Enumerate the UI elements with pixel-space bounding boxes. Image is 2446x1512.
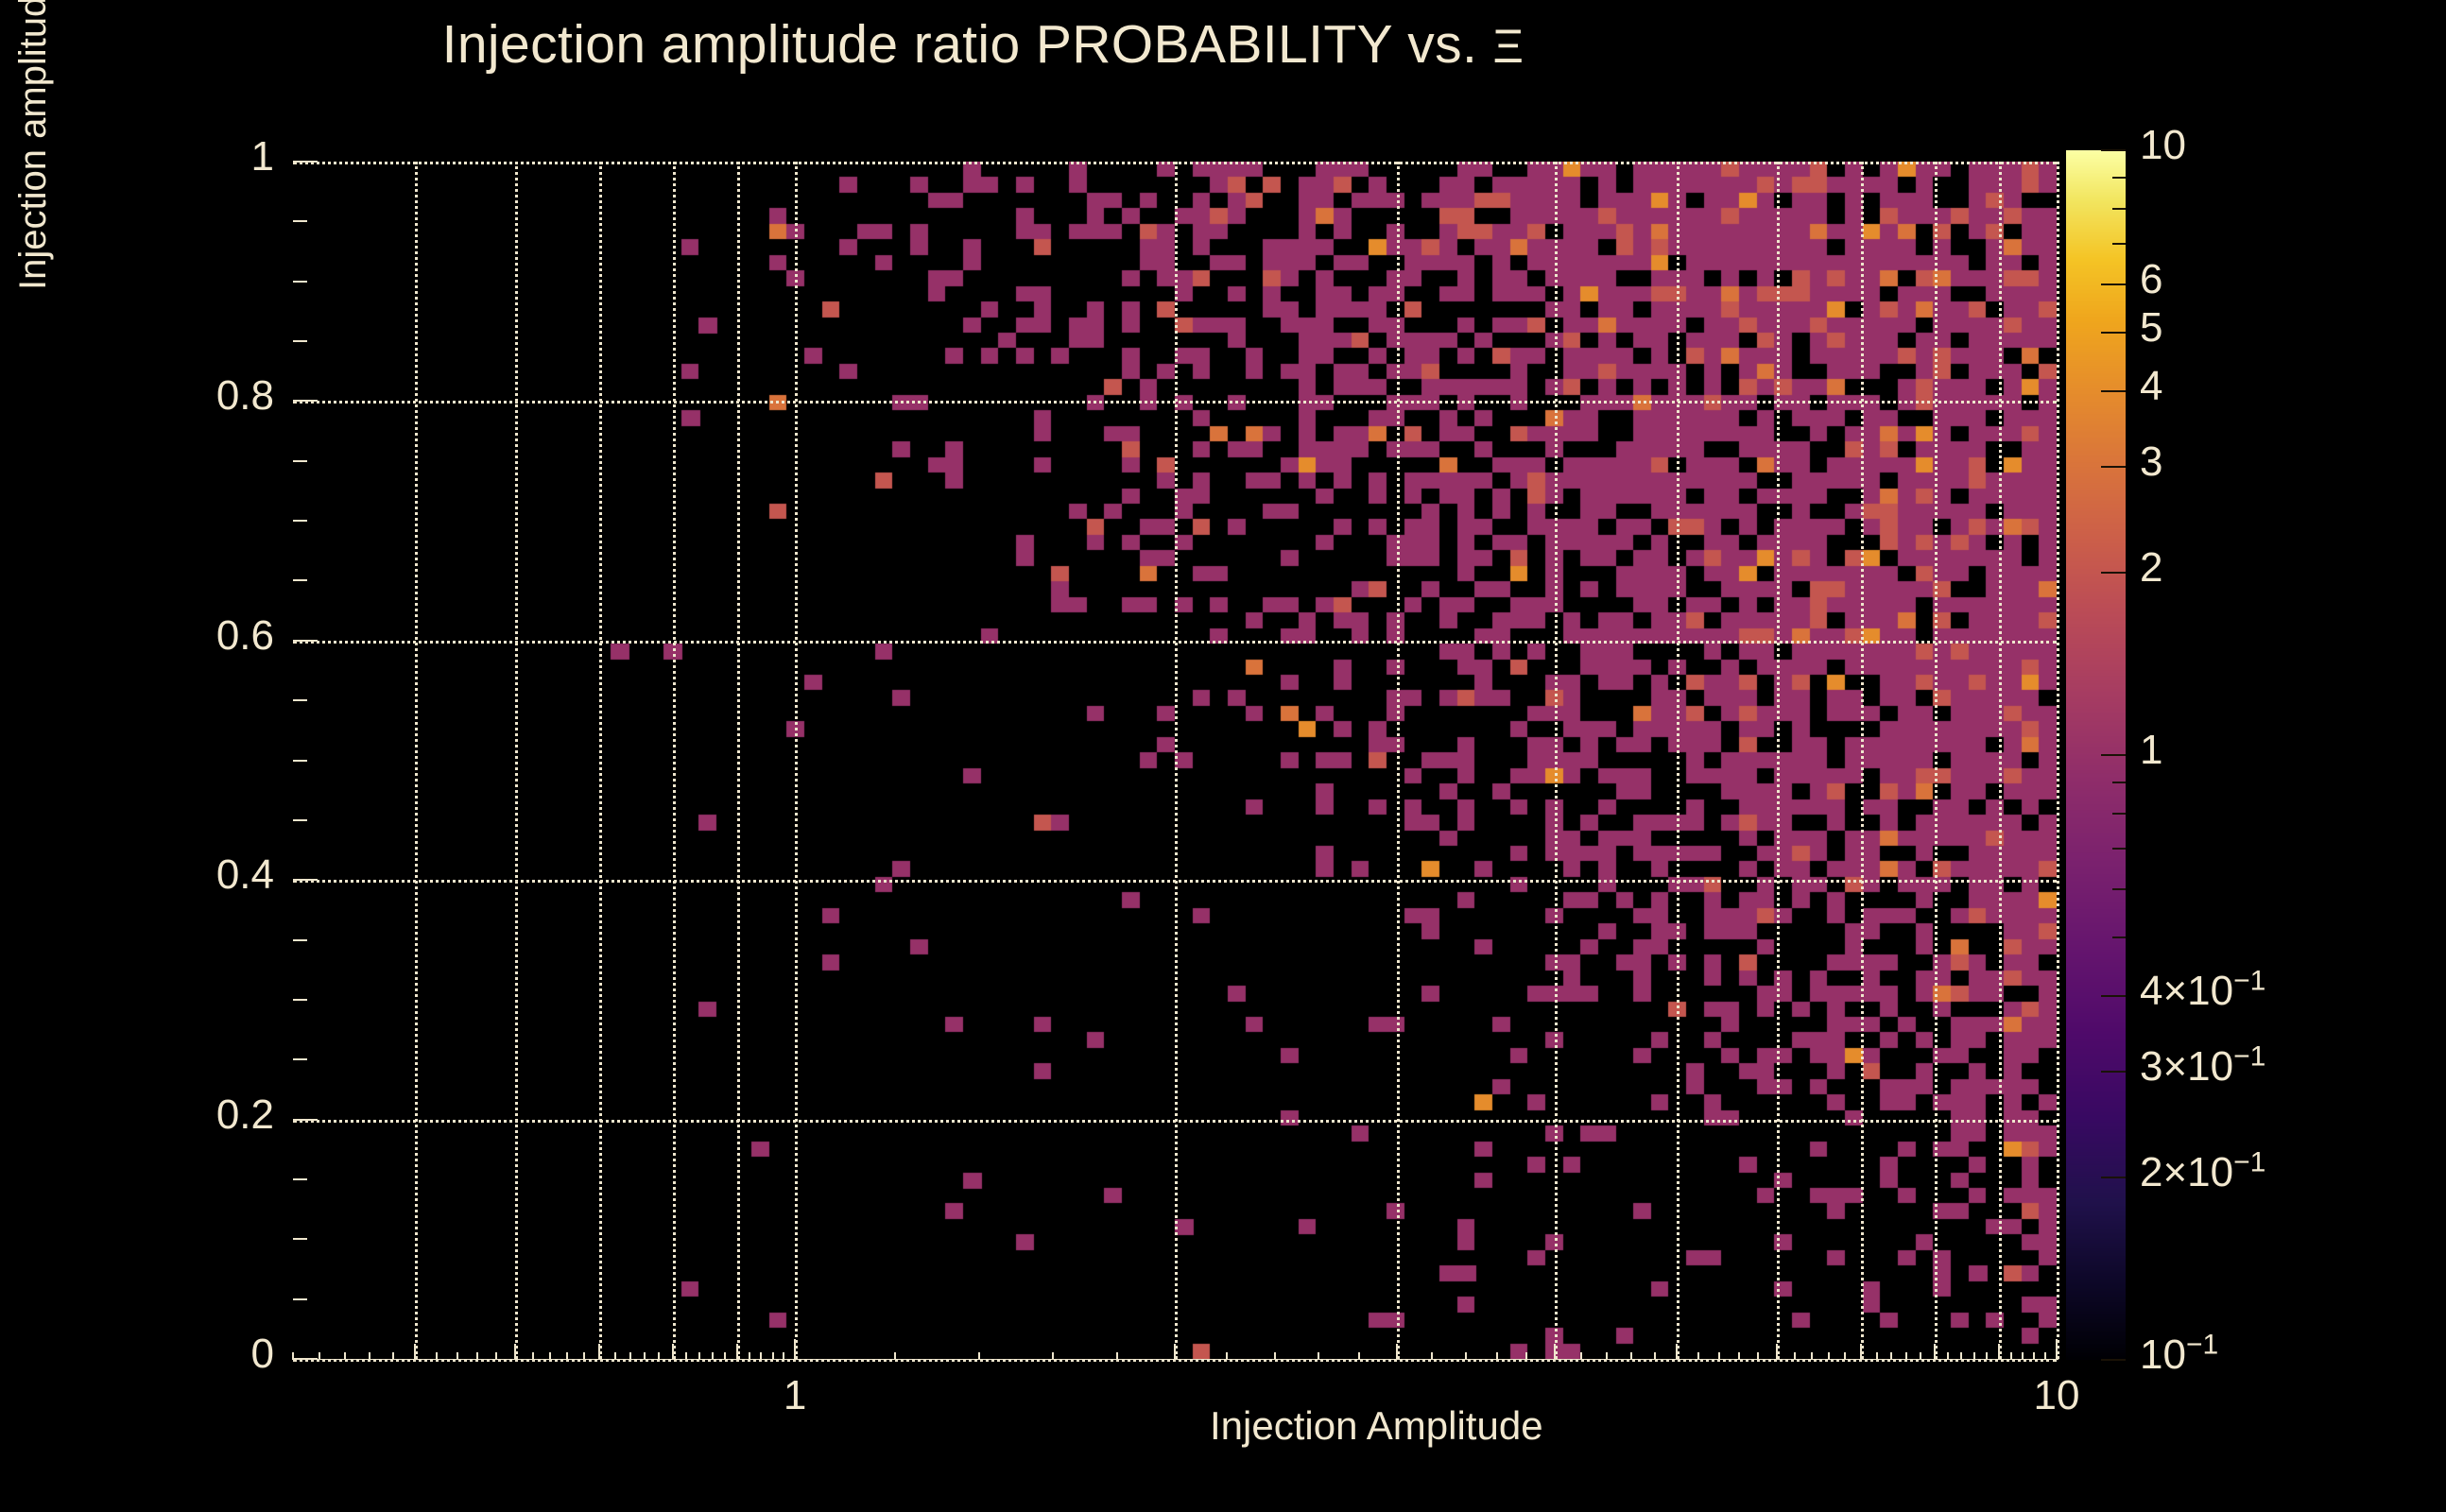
x-tick-fine <box>1757 1352 1759 1360</box>
colorbar-tick-label: 2 <box>2140 544 2162 592</box>
x-tick-fine <box>760 1352 762 1360</box>
y-tick-minor <box>293 1058 307 1060</box>
x-axis-title: Injection Amplitude <box>1210 1403 1543 1449</box>
x-tick-fine <box>1934 1352 1936 1360</box>
x-tick-fine <box>1116 1352 1118 1360</box>
y-tick-label: 0.6 <box>123 612 274 660</box>
y-tick-major <box>293 879 318 881</box>
y-tick-label: 0.2 <box>123 1091 274 1139</box>
y-tick-minor <box>293 1178 307 1180</box>
x-tick-fine <box>1465 1352 1467 1360</box>
x-tick-fine <box>1554 1352 1556 1360</box>
colorbar-tick-label: 5 <box>2140 304 2162 352</box>
colorbar-tick-minor <box>2112 208 2126 210</box>
colorbar-tick-major <box>2101 1177 2126 1178</box>
x-tick-fine <box>292 1352 294 1360</box>
x-tick-fine <box>1697 1352 1699 1360</box>
x-tick-fine <box>614 1352 616 1360</box>
x-tick-fine <box>1358 1352 1360 1360</box>
x-tick-fine <box>414 1352 416 1360</box>
colorbar-tick-major <box>2101 572 2126 574</box>
x-tick-fine <box>1860 1352 1862 1360</box>
colorbar-tick-major <box>2101 283 2126 285</box>
y-tick-minor <box>293 819 307 821</box>
chart-title-symbol: Ξ <box>1493 20 1524 73</box>
y-tick-minor <box>293 579 307 581</box>
x-tick-fine <box>1986 1352 1988 1360</box>
colorbar-tick-major <box>2101 149 2126 151</box>
chart-root: Injection amplitude ratio PROBABILITY vs… <box>0 0 2446 1512</box>
x-tick-fine <box>1960 1352 1962 1360</box>
y-tick-minor <box>293 220 307 222</box>
x-tick-fine <box>1226 1352 1228 1360</box>
x-tick-fine <box>2044 1352 2046 1360</box>
x-tick-fine <box>549 1352 551 1360</box>
colorbar-tick-major <box>2101 754 2126 756</box>
x-tick-fine <box>794 1352 796 1360</box>
x-tick-fine <box>598 1352 600 1360</box>
colorbar-tick-minor <box>2112 782 2126 783</box>
x-tick-fine <box>1676 1352 1678 1360</box>
y-axis-title: Injection amplitude ratio probability, g… <box>0 0 66 294</box>
colorbar-tick-label: 1 <box>2140 727 2162 774</box>
x-tick-fine <box>392 1352 394 1360</box>
y-tick-minor <box>293 1238 307 1240</box>
x-tick-fine <box>749 1352 750 1360</box>
y-tick-label: 0.4 <box>123 851 274 899</box>
x-tick-fine <box>344 1352 346 1360</box>
x-tick-fine <box>1606 1352 1608 1360</box>
x-tick-fine <box>2022 1352 2024 1360</box>
y-tick-major <box>293 400 318 402</box>
x-tick-fine <box>1654 1352 1656 1360</box>
chart-title-text: Injection amplitude ratio PROBABILITY vs… <box>442 14 1478 75</box>
x-tick-fine <box>566 1352 568 1360</box>
x-tick-fine <box>1174 1352 1176 1360</box>
x-tick-fine <box>1396 1352 1398 1360</box>
x-tick-fine <box>369 1352 370 1360</box>
colorbar-tick-minor <box>2112 813 2126 815</box>
colorbar-tick-major <box>2101 390 2126 392</box>
x-tick-fine <box>783 1352 784 1360</box>
heatmap-canvas <box>293 162 2057 1359</box>
colorbar-tick-minor <box>2112 243 2126 245</box>
x-tick-fine <box>1998 1352 2000 1360</box>
x-tick-fine <box>1973 1352 1975 1360</box>
x-tick-fine <box>1431 1352 1433 1360</box>
x-tick-fine <box>2010 1352 2012 1360</box>
x-tick-fine <box>2056 1352 2058 1360</box>
y-tick-minor <box>293 1298 307 1300</box>
x-tick-fine <box>456 1352 458 1360</box>
colorbar-tick-major <box>2101 995 2126 997</box>
x-tick-fine <box>672 1352 674 1360</box>
x-tick-fine <box>698 1352 700 1360</box>
colorbar-tick-minor <box>2112 848 2126 850</box>
colorbar-tick-label: 10 <box>2140 122 2186 169</box>
x-tick-fine <box>436 1352 438 1360</box>
colorbar-tick-major <box>2101 1071 2126 1073</box>
y-tick-minor <box>293 939 307 941</box>
x-tick-fine <box>1794 1352 1796 1360</box>
x-tick-fine <box>978 1352 980 1360</box>
x-axis-title-text: Injection Amplitude <box>1210 1403 1543 1448</box>
x-tick-fine <box>583 1352 585 1360</box>
x-tick-fine <box>514 1352 516 1360</box>
x-tick-fine <box>1890 1352 1892 1360</box>
x-tick-fine <box>1052 1352 1054 1360</box>
colorbar-tick-label: 2×10−1 <box>2140 1149 2265 1196</box>
x-gridline <box>2057 162 2059 1359</box>
colorbar-tick-label: 3 <box>2140 438 2162 486</box>
chart-title: Injection amplitude ratio PROBABILITY vs… <box>0 13 1966 76</box>
x-tick-label: 1 <box>719 1372 870 1419</box>
x-tick-fine <box>2033 1352 2035 1360</box>
y-tick-major <box>293 161 318 163</box>
x-tick-fine <box>1811 1352 1813 1360</box>
colorbar-tick-major <box>2101 1359 2126 1361</box>
x-tick-fine <box>1738 1352 1740 1360</box>
y-tick-minor <box>293 340 307 342</box>
y-tick-minor <box>293 460 307 462</box>
x-tick-fine <box>1828 1352 1830 1360</box>
x-tick-fine <box>1274 1352 1276 1360</box>
x-tick-fine <box>1876 1352 1878 1360</box>
y-tick-major <box>293 1358 318 1360</box>
y-tick-label: 0.8 <box>123 372 274 420</box>
x-tick-fine <box>1525 1352 1527 1360</box>
x-tick-fine <box>1496 1352 1498 1360</box>
y-tick-label: 0 <box>123 1331 274 1378</box>
x-tick-fine <box>1318 1352 1319 1360</box>
colorbar-tick-major <box>2101 466 2126 468</box>
colorbar-tick-major <box>2101 332 2126 334</box>
x-tick-fine <box>724 1352 726 1360</box>
x-tick-fine <box>894 1352 896 1360</box>
x-tick-fine <box>736 1352 738 1360</box>
colorbar-tick-minor <box>2112 936 2126 938</box>
x-tick-fine <box>1630 1352 1632 1360</box>
y-tick-minor <box>293 281 307 283</box>
colorbar-tick-label: 3×10−1 <box>2140 1043 2265 1091</box>
x-tick-fine <box>1920 1352 1921 1360</box>
y-axis-title-text: Injection amplitude ratio probability, g… <box>12 0 55 290</box>
colorbar-tick-label: 4×10−1 <box>2140 968 2265 1015</box>
x-tick-fine <box>685 1352 687 1360</box>
x-tick-fine <box>1947 1352 1949 1360</box>
y-tick-minor <box>293 520 307 522</box>
x-tick-fine <box>1776 1352 1778 1360</box>
x-tick-fine <box>644 1352 646 1360</box>
y-tick-major <box>293 1119 318 1121</box>
colorbar-tick-label: 4 <box>2140 363 2162 410</box>
x-tick-label: 10 <box>1981 1372 2132 1419</box>
y-tick-major <box>293 640 318 642</box>
x-tick-fine <box>1844 1352 1846 1360</box>
y-tick-minor <box>293 760 307 762</box>
y-tick-minor <box>293 999 307 1001</box>
x-tick-fine <box>772 1352 774 1360</box>
colorbar-tick-minor <box>2112 888 2126 890</box>
x-tick-fine <box>712 1352 714 1360</box>
y-tick-label: 1 <box>123 133 274 180</box>
x-tick-fine <box>532 1352 534 1360</box>
colorbar-tick-label: 6 <box>2140 256 2162 303</box>
colorbar-tick-minor <box>2112 177 2126 179</box>
x-tick-fine <box>658 1352 660 1360</box>
plot-area <box>293 162 2057 1359</box>
colorbar-title: Number detected injections <box>2259 0 2316 264</box>
x-tick-fine <box>1905 1352 1907 1360</box>
x-tick-fine <box>319 1352 320 1360</box>
colorbar-tick-label: 10−1 <box>2140 1332 2218 1379</box>
x-tick-fine <box>1580 1352 1582 1360</box>
x-tick-fine <box>495 1352 497 1360</box>
x-tick-fine <box>629 1352 631 1360</box>
y-tick-minor <box>293 699 307 701</box>
x-tick-fine <box>1718 1352 1720 1360</box>
x-tick-fine <box>476 1352 478 1360</box>
